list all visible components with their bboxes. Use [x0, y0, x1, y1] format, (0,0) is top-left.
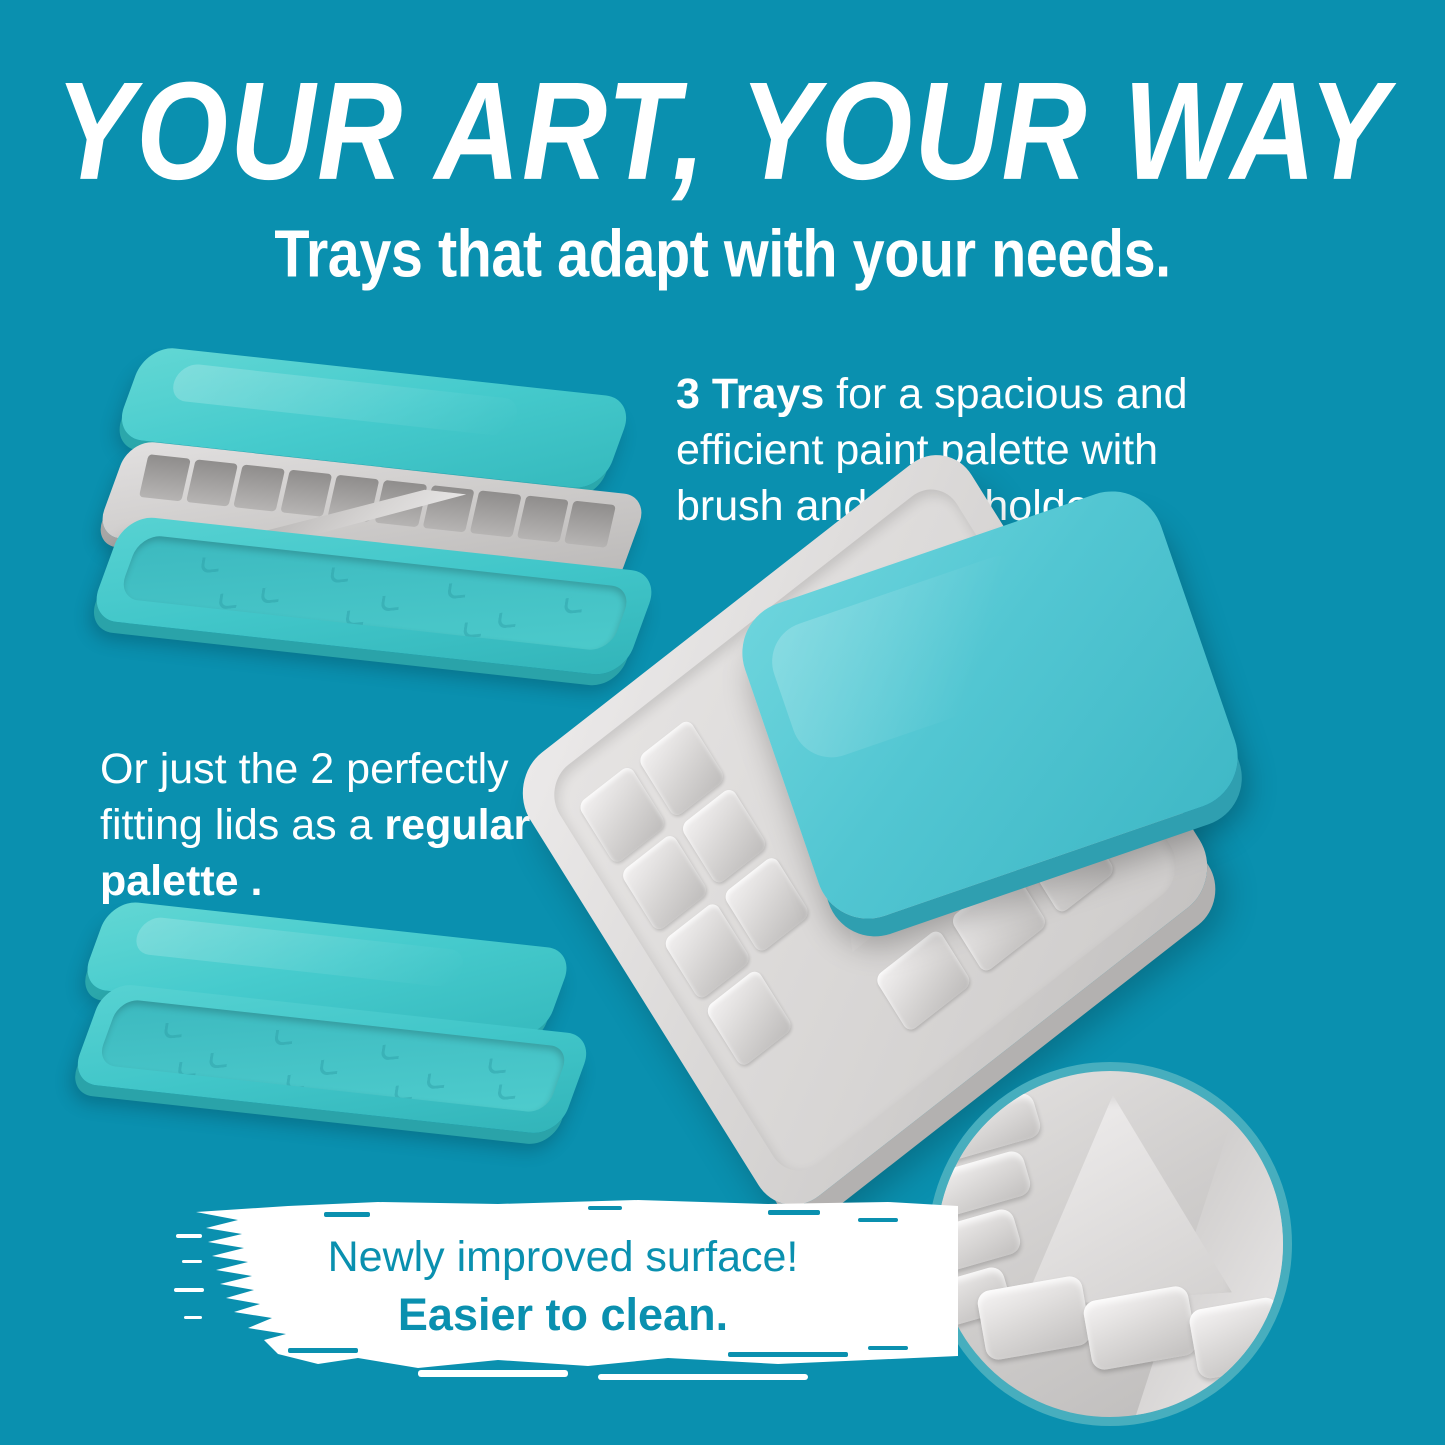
inset-triangular-well [1008, 1088, 1232, 1307]
feature-trays-bold: 3 Trays [676, 370, 824, 418]
page-subtitle: Trays that adapt with your needs. [29, 215, 1416, 292]
detail-zoom-inset [928, 1062, 1292, 1426]
infographic-canvas: YOUR ART, YOUR WAY Trays that adapt with… [0, 0, 1445, 1445]
banner-line-one: Newly improved surface! [168, 1230, 958, 1286]
bottom-brush-banner: Newly improved surface! Easier to clean. [168, 1188, 958, 1384]
product-two-lid-stack [78, 925, 598, 1145]
product-hero-palette [575, 540, 1395, 1120]
page-title: YOUR ART, YOUR WAY [0, 62, 1445, 201]
banner-line-two: Easier to clean. [168, 1286, 958, 1345]
banner-text-block: Newly improved surface! Easier to clean. [168, 1230, 958, 1344]
